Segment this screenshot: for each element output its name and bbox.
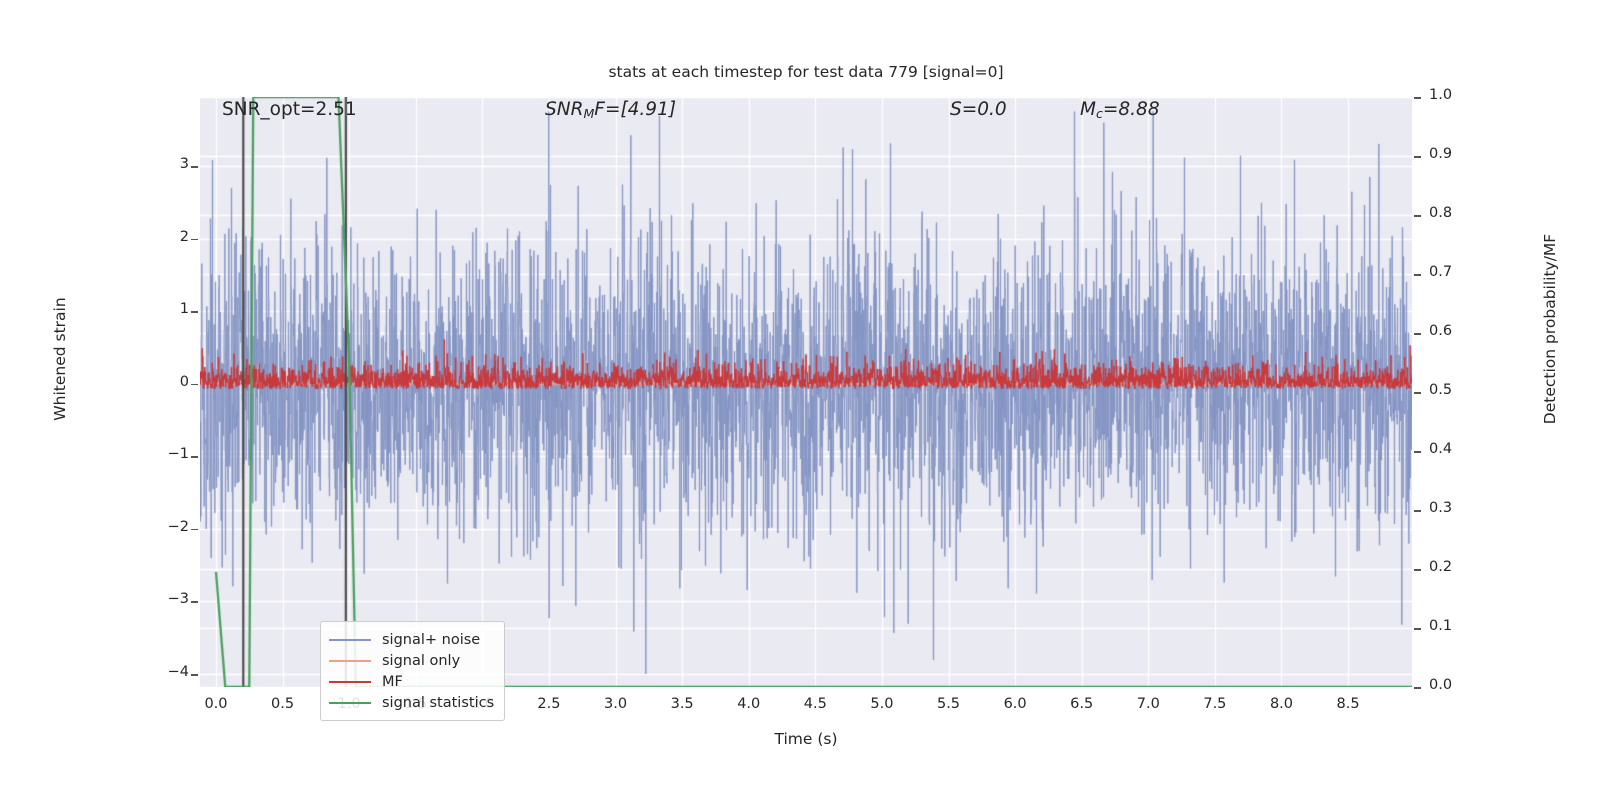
- x-tick-label: 7.0: [1118, 696, 1178, 712]
- y-tick-label-right: 0.2: [1429, 559, 1452, 575]
- legend-item[interactable]: MF: [329, 671, 494, 692]
- legend-label: MF: [382, 674, 403, 690]
- y-tick-label-right: 0.0: [1429, 677, 1452, 693]
- plot-axes-area[interactable]: [200, 97, 1412, 687]
- x-tick-label: 8.5: [1318, 696, 1378, 712]
- x-tick-label: 3.5: [652, 696, 712, 712]
- x-tick-label: 7.5: [1185, 696, 1245, 712]
- legend-label: signal only: [382, 653, 460, 669]
- figure: stats at each timestep for test data 779…: [0, 0, 1600, 800]
- y-tick-label-right: 0.7: [1429, 264, 1452, 280]
- y-tick-mark-right: [1414, 156, 1421, 158]
- legend-swatch-icon: [329, 660, 371, 662]
- legend-swatch-icon: [329, 639, 371, 641]
- y-tick-mark-right: [1414, 97, 1421, 99]
- y-axis-label-left: Whitened strain: [51, 239, 69, 479]
- y-tick-mark-right: [1414, 333, 1421, 335]
- y-tick-mark-right: [1414, 392, 1421, 394]
- x-tick-label: 4.0: [719, 696, 779, 712]
- y-tick-label-right: 0.4: [1429, 441, 1452, 457]
- legend-item[interactable]: signal only: [329, 650, 494, 671]
- x-tick-label: 0.5: [253, 696, 313, 712]
- x-tick-label: 5.5: [919, 696, 979, 712]
- y-tick-mark-left: [191, 601, 198, 603]
- legend-label: signal+ noise: [382, 632, 480, 648]
- x-tick-label: 0.0: [186, 696, 246, 712]
- y-tick-label-left: 2: [143, 229, 189, 245]
- y-tick-mark-right: [1414, 451, 1421, 453]
- y-tick-label-left: −4: [143, 664, 189, 680]
- y-tick-label-left: −1: [143, 446, 189, 462]
- x-tick-label: 8.0: [1251, 696, 1311, 712]
- y-tick-mark-left: [191, 311, 198, 313]
- legend[interactable]: signal+ noisesignal onlyMFsignal statist…: [320, 621, 505, 721]
- legend-item[interactable]: signal+ noise: [329, 629, 494, 650]
- y-tick-label-right: 0.8: [1429, 205, 1452, 221]
- y-tick-label-right: 1.0: [1429, 87, 1452, 103]
- legend-swatch-icon: [329, 702, 371, 704]
- legend-swatch-icon: [329, 681, 371, 683]
- y-tick-label-right: 0.9: [1429, 146, 1452, 162]
- x-tick-label: 3.0: [586, 696, 646, 712]
- y-tick-mark-left: [191, 384, 198, 386]
- y-tick-mark-right: [1414, 215, 1421, 217]
- y-tick-mark-right: [1414, 569, 1421, 571]
- y-tick-label-left: 1: [143, 301, 189, 317]
- y-tick-mark-left: [191, 166, 198, 168]
- x-axis-label: Time (s): [200, 730, 1412, 748]
- y-tick-mark-left: [191, 674, 198, 676]
- legend-label: signal statistics: [382, 695, 494, 711]
- y-tick-mark-left: [191, 456, 198, 458]
- y-tick-label-left: −3: [143, 591, 189, 607]
- page-title: stats at each timestep for test data 779…: [200, 63, 1412, 81]
- x-tick-label: 6.0: [985, 696, 1045, 712]
- y-tick-label-left: 3: [143, 156, 189, 172]
- x-tick-label: 6.5: [1052, 696, 1112, 712]
- y-axis-label-right: Detection probability/MF: [1541, 179, 1559, 479]
- y-tick-label-right: 0.3: [1429, 500, 1452, 516]
- y-tick-mark-left: [191, 529, 198, 531]
- y-tick-mark-left: [191, 239, 198, 241]
- legend-item[interactable]: signal statistics: [329, 692, 494, 713]
- y-tick-label-right: 0.1: [1429, 618, 1452, 634]
- y-tick-label-left: 0: [143, 374, 189, 390]
- y-tick-mark-right: [1414, 628, 1421, 630]
- y-tick-mark-right: [1414, 687, 1421, 689]
- x-tick-label: 5.0: [852, 696, 912, 712]
- y-tick-mark-right: [1414, 274, 1421, 276]
- y-tick-mark-right: [1414, 510, 1421, 512]
- y-tick-label-right: 0.6: [1429, 323, 1452, 339]
- plot-canvas[interactable]: [200, 97, 1412, 687]
- y-tick-label-right: 0.5: [1429, 382, 1452, 398]
- x-tick-label: 2.5: [519, 696, 579, 712]
- y-tick-label-left: −2: [143, 519, 189, 535]
- x-tick-label: 4.5: [785, 696, 845, 712]
